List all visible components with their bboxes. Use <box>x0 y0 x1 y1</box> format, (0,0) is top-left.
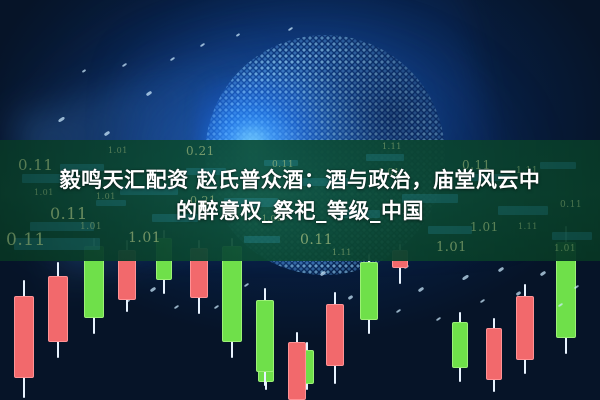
candlestick-body-down <box>326 304 344 366</box>
particle <box>436 317 441 321</box>
candlestick-wick <box>524 284 526 374</box>
candlestick-wick <box>306 342 308 390</box>
particle <box>418 287 425 293</box>
particle <box>540 271 547 277</box>
candlestick-wick <box>493 318 495 392</box>
particle <box>288 27 293 31</box>
particle <box>104 131 111 137</box>
particle <box>214 305 219 309</box>
candlestick-body-down <box>14 296 34 378</box>
candlestick-wick <box>57 262 59 358</box>
candlestick-body-up <box>452 322 468 368</box>
particle <box>150 287 157 293</box>
candlestick-body-up <box>256 300 274 372</box>
particle <box>268 309 275 315</box>
candlestick-body-down <box>48 276 68 342</box>
particle <box>58 116 65 122</box>
particle <box>82 69 86 73</box>
candlestick-body-down <box>516 296 534 360</box>
candlestick-body-down <box>288 342 306 400</box>
particle <box>372 281 379 287</box>
candlestick-body-down <box>486 328 502 380</box>
particle <box>146 91 153 97</box>
particle <box>196 283 203 289</box>
particle <box>396 309 401 313</box>
particle <box>348 295 354 300</box>
particle <box>480 299 485 303</box>
headline-line-2: 的醉意权_祭祀_等级_中国 <box>0 196 600 226</box>
headline-line-1: 毅鸣天汇配资 赵氏普众酒：酒与政治，庙堂风云中 <box>0 165 600 195</box>
particle <box>122 63 127 67</box>
particle <box>170 57 175 61</box>
candlestick-body-up <box>300 350 314 384</box>
particle <box>126 299 130 303</box>
particle <box>574 285 579 289</box>
particle <box>558 303 563 307</box>
candlestick-wick <box>265 334 267 390</box>
candlestick-wick <box>334 292 336 384</box>
particle <box>498 267 505 273</box>
candlestick-wick <box>23 280 25 398</box>
particle <box>516 291 522 296</box>
particle <box>462 274 469 280</box>
banner-image: 0.111.010.211.011.010.111.010.111.010.21… <box>0 0 600 400</box>
candlestick-wick <box>264 288 266 386</box>
particle <box>174 305 179 309</box>
particle <box>244 283 249 287</box>
candlestick-body-up <box>258 342 274 382</box>
candlestick-wick <box>459 312 461 382</box>
candlestick-wick <box>296 332 298 400</box>
